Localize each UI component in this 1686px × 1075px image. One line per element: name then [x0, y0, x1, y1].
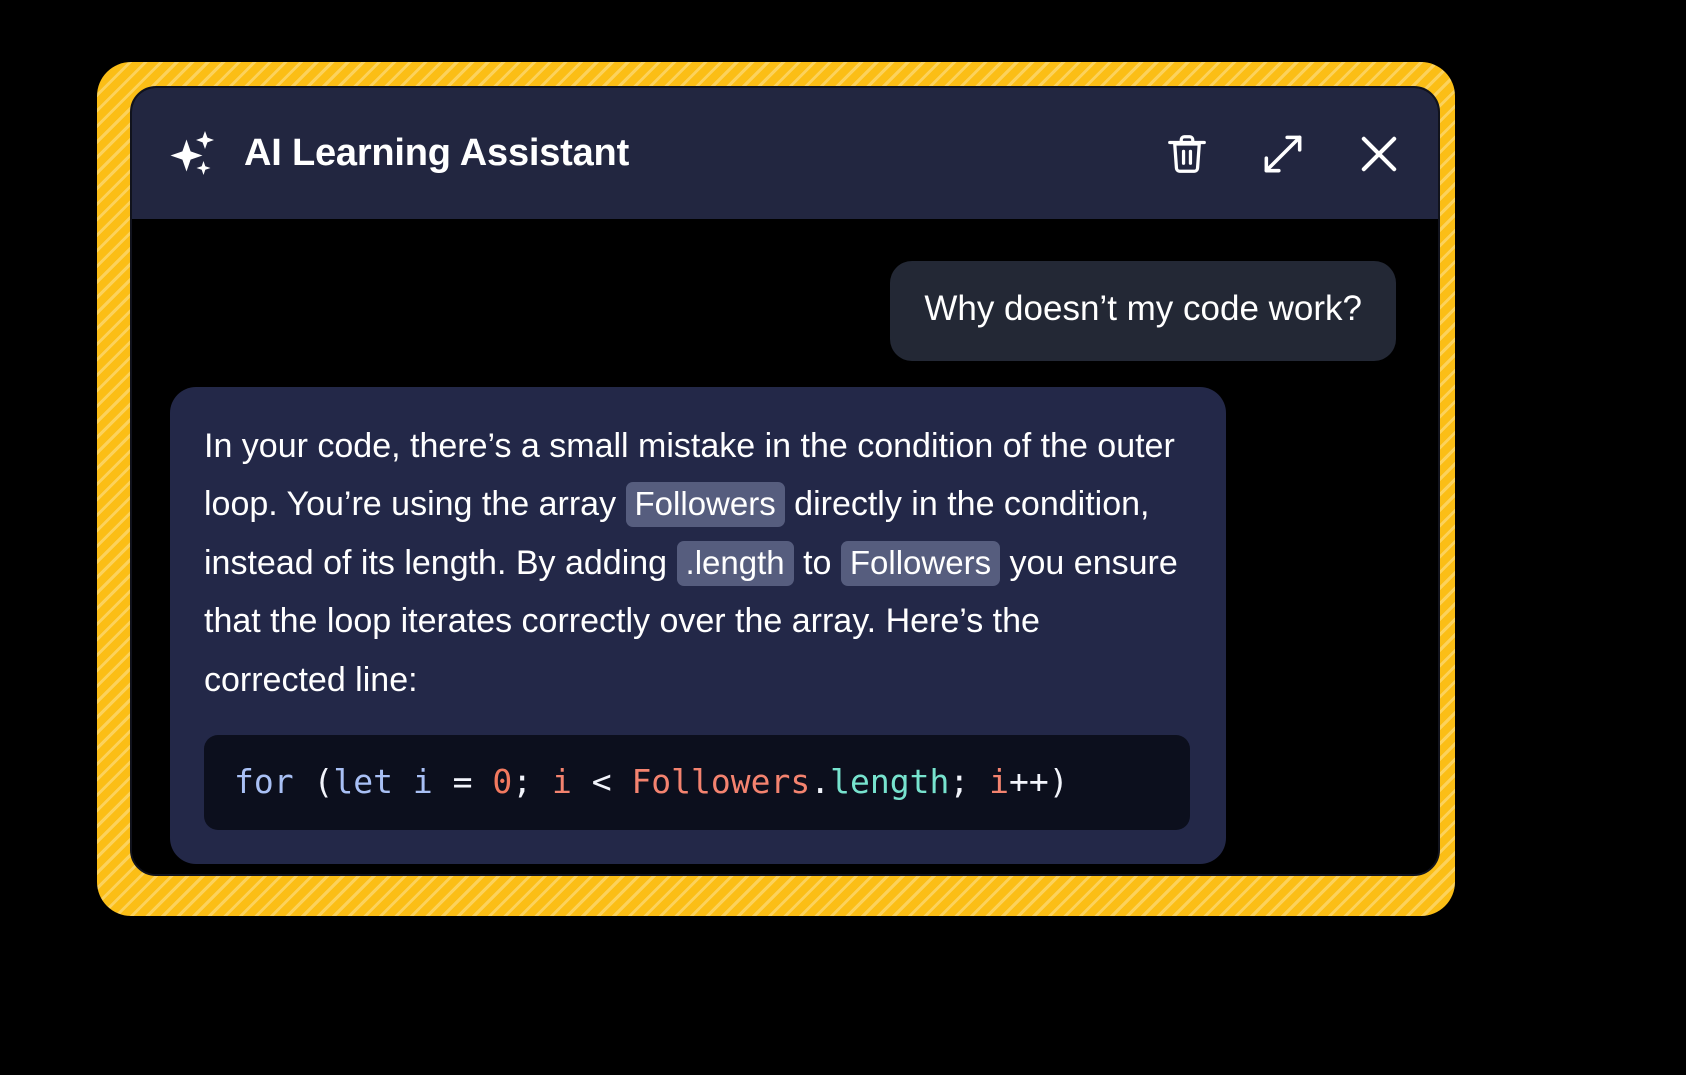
- code-token: Followers: [631, 762, 810, 801]
- assistant-text-segment-3: to: [794, 544, 841, 582]
- titlebar-left-group: AI Learning Assistant: [168, 127, 1162, 181]
- code-token: =: [433, 762, 493, 801]
- inline-code-chip-length: .length: [677, 541, 794, 586]
- code-token: <: [572, 762, 632, 801]
- code-token: for: [234, 762, 294, 801]
- code-snippet-block[interactable]: for (let i = 0; i < Followers.length; i+…: [204, 735, 1190, 830]
- code-token: [393, 762, 413, 801]
- inline-code-chip-followers-1: Followers: [626, 482, 785, 527]
- close-button[interactable]: [1354, 129, 1404, 179]
- titlebar-actions: [1162, 129, 1404, 179]
- code-token: length: [830, 762, 949, 801]
- screenshot-stage: AI Learning Assistant: [0, 0, 1686, 1075]
- code-token: (: [294, 762, 334, 801]
- code-token: ;: [512, 762, 552, 801]
- conversation-area: Why doesn’t my code work? In your code, …: [132, 219, 1438, 874]
- code-token: ;: [949, 762, 989, 801]
- window-titlebar: AI Learning Assistant: [132, 88, 1438, 219]
- code-token: ++): [1009, 762, 1069, 801]
- inline-code-chip-followers-2: Followers: [841, 541, 1000, 586]
- expand-diagonal-icon: [1258, 129, 1308, 179]
- assistant-message-row: In your code, there’s a small mistake in…: [170, 361, 1400, 865]
- code-token: i: [552, 762, 572, 801]
- close-icon: [1353, 128, 1405, 180]
- user-message-row: Why doesn’t my code work?: [170, 261, 1400, 361]
- ai-assistant-window: AI Learning Assistant: [130, 86, 1440, 876]
- code-token: 0: [492, 762, 512, 801]
- delete-conversation-button[interactable]: [1162, 129, 1212, 179]
- assistant-message-bubble: In your code, there’s a small mistake in…: [170, 387, 1226, 865]
- expand-button[interactable]: [1258, 129, 1308, 179]
- sparkle-icon: [168, 127, 222, 181]
- code-token: .: [810, 762, 830, 801]
- code-token: i: [413, 762, 433, 801]
- page-title: AI Learning Assistant: [244, 132, 629, 175]
- user-message-bubble: Why doesn’t my code work?: [890, 261, 1396, 361]
- trash-icon: [1164, 131, 1210, 177]
- assistant-message-text: In your code, there’s a small mistake in…: [204, 417, 1190, 709]
- code-token: let: [333, 762, 393, 801]
- code-token: i: [989, 762, 1009, 801]
